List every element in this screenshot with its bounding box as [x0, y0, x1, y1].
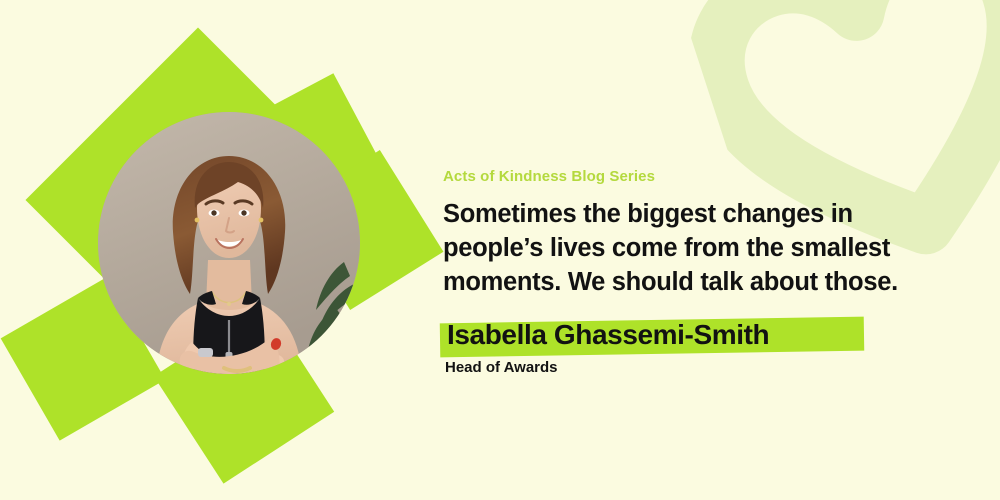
name-wrapper: Isabella Ghassemi-Smith: [443, 314, 773, 356]
quote-banner: Acts of Kindness Blog Series Sometimes t…: [0, 0, 1000, 500]
series-eyebrow: Acts of Kindness Blog Series: [443, 168, 943, 186]
author-role: Head of Awards: [445, 358, 923, 378]
author-name: Isabella Ghassemi-Smith: [443, 314, 773, 356]
avatar: [98, 112, 360, 374]
quote-text: Sometimes the biggest changes in people’…: [443, 198, 928, 300]
attribution-block: Isabella Ghassemi-Smith Head of Awards: [443, 314, 923, 378]
quote-content: Acts of Kindness Blog Series Sometimes t…: [443, 168, 943, 300]
